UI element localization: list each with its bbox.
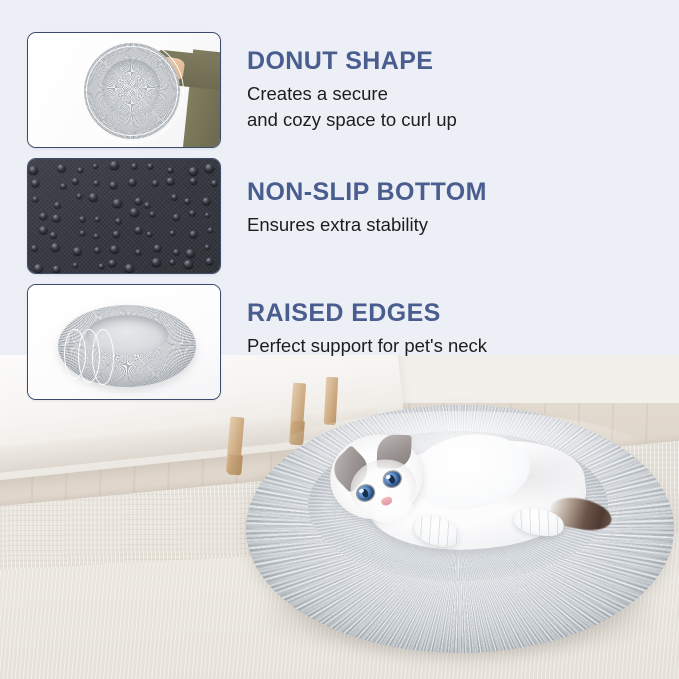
anti-slip-dot [171,195,178,201]
anti-slip-dot [108,260,116,267]
anti-slip-dot [147,163,153,168]
anti-slip-dot [31,179,39,186]
anti-slip-dot [40,212,48,218]
anti-slip-dot [60,183,66,188]
anti-slip-dots [28,159,220,273]
anti-slip-dot [93,164,98,169]
anti-slip-dot [72,178,79,184]
anti-slip-dot [135,249,141,254]
anti-slip-dot [57,164,66,171]
anti-slip-dot [94,234,100,239]
anti-slip-dot [89,193,98,201]
anti-slip-dot [152,180,159,186]
anti-slip-dot [77,194,83,199]
feature-thumbnail-donut-shape [27,32,221,148]
anti-slip-dot [32,197,38,202]
anti-slip-dot [34,264,43,272]
anti-slip-dot [129,179,137,186]
anti-slip-dot [125,264,134,272]
anti-slip-dot [51,243,60,251]
product-infographic-page: DONUT SHAPE Creates a secure and cozy sp… [0,0,679,679]
anti-slip-dot [150,212,156,217]
anti-slip-dot [205,164,214,172]
feature-text-donut-shape: DONUT SHAPE Creates a secure and cozy sp… [247,47,457,133]
feature-title: RAISED EDGES [247,299,487,328]
anti-slip-dot [146,232,152,237]
anti-slip-dot [73,262,78,267]
anti-slip-dot [115,218,122,224]
feature-text-non-slip-bottom: NON-SLIP BOTTOM Ensures extra stability [247,178,487,238]
donut-pet-bed [246,405,674,665]
anti-slip-dot [113,199,122,207]
anti-slip-dot [184,260,193,268]
anti-slip-dot [130,208,139,216]
anti-slip-dot [110,182,118,189]
anti-slip-dot [53,215,61,222]
sofa-leg-tip [227,454,243,475]
anti-slip-dot [50,231,57,237]
anti-slip-dot [54,202,61,208]
anti-slip-dot [169,260,175,265]
anti-slip-dot [205,213,210,218]
anti-slip-dot [173,249,180,255]
feature-title: DONUT SHAPE [247,47,457,76]
anti-slip-dot [53,265,61,272]
feature-subtitle: Ensures extra stability [247,212,487,238]
anti-slip-dot [95,217,101,222]
anti-slip-dot [152,258,161,266]
anti-slip-dot [144,202,150,208]
anti-slip-dot [78,167,84,172]
anti-slip-dot [205,245,210,250]
anti-slip-dot [110,246,118,253]
anti-slip-dot [186,249,195,257]
anti-slip-dot [203,197,211,204]
anti-slip-dot [153,245,161,251]
anti-slip-dot [134,227,142,234]
anti-slip-dot [98,264,104,269]
measurement-arc [92,329,114,385]
feature-subtitle: Perfect support for pet's neck [247,333,487,359]
anti-slip-dot [190,210,196,216]
measurement-ring-inner [86,46,178,136]
anti-slip-dot [131,163,137,169]
feature-thumbnail-non-slip-bottom [27,158,221,274]
anti-slip-dot [170,231,176,236]
anti-slip-dot [189,167,198,175]
anti-slip-dot [211,181,218,187]
feature-text-raised-edges: RAISED EDGES Perfect support for pet's n… [247,299,487,359]
anti-slip-dot [73,248,82,256]
anti-slip-dot [94,181,100,186]
anti-slip-dot [79,231,85,236]
anti-slip-dot [167,178,175,185]
anti-slip-dot [94,248,101,254]
anti-slip-dot [168,167,174,172]
anti-slip-dot [31,245,38,251]
anti-slip-dot [190,178,197,184]
feature-thumbnail-raised-edges [27,284,221,400]
anti-slip-dot [205,257,213,264]
feature-title: NON-SLIP BOTTOM [247,178,487,207]
ragdoll-kitten [318,413,618,563]
anti-slip-dot [190,230,198,237]
anti-slip-dot [184,198,190,203]
anti-slip-dot [208,228,214,233]
anti-slip-dot [29,166,38,174]
anti-slip-dot [173,214,180,220]
anti-slip-dot [39,226,48,233]
anti-slip-dot [79,216,85,221]
feature-subtitle: Creates a secure and cozy space to curl … [247,81,457,134]
anti-slip-dot [112,231,119,237]
anti-slip-dot [135,198,143,205]
anti-slip-dot [110,161,119,169]
